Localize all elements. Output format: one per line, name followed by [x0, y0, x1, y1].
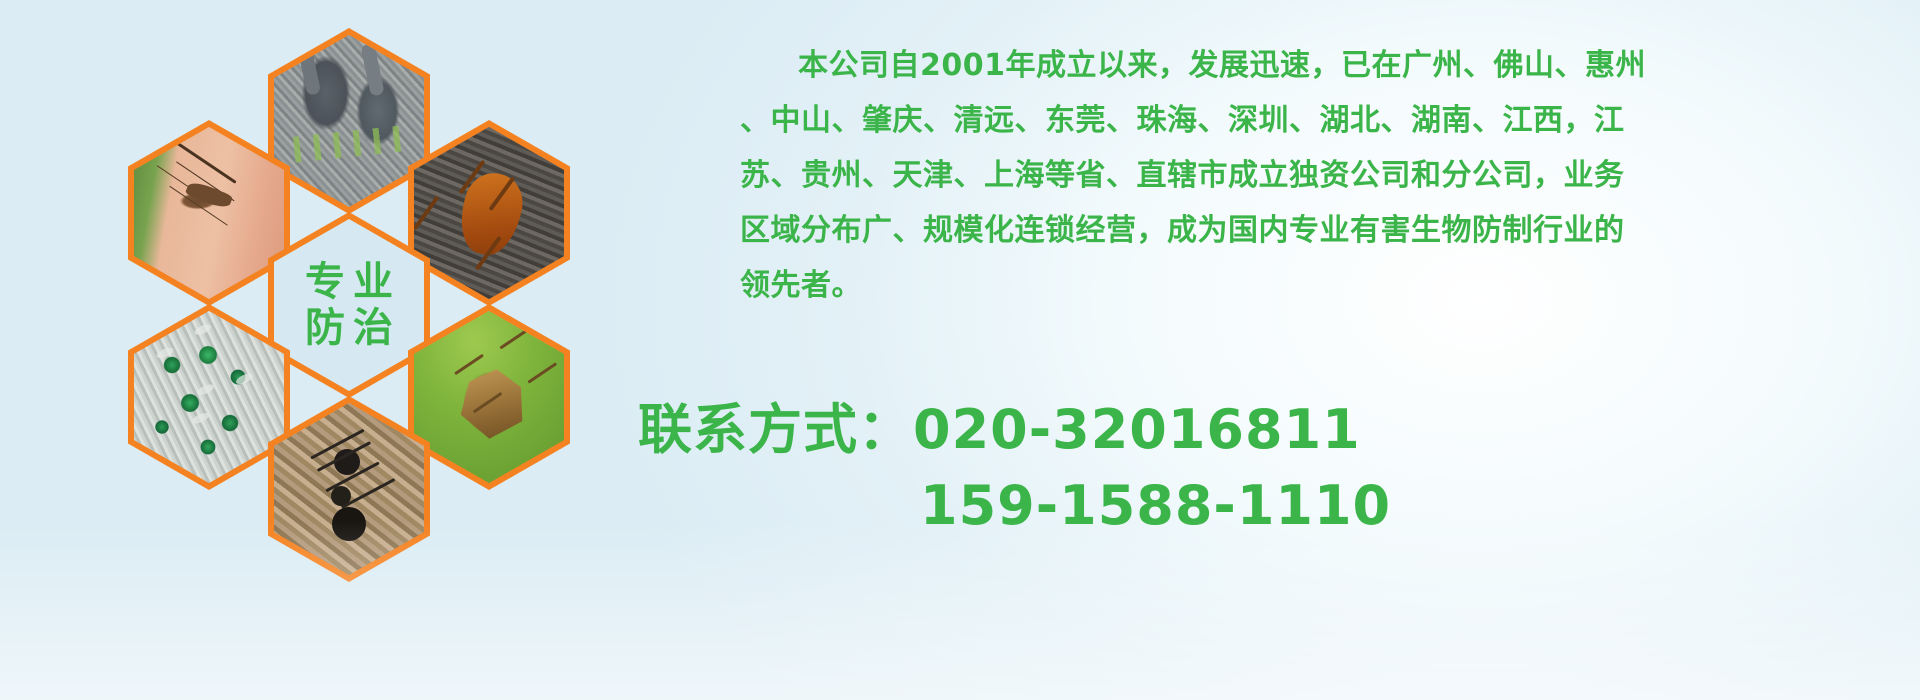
- contact-mobile[interactable]: 159-1588-1110: [630, 468, 1900, 544]
- intro-line-1: 本公司自2001年成立以来，发展迅速，已在广州、佛山、惠州: [740, 38, 1860, 93]
- flies-photo: [134, 311, 284, 483]
- intro-line-5: 领先者。: [740, 258, 1860, 313]
- hex-cell-stinkbug: [408, 304, 570, 490]
- hex-cell-rats: [268, 28, 430, 214]
- hex-cell-label: 专业 防治: [268, 212, 430, 398]
- company-intro-paragraph: 本公司自2001年成立以来，发展迅速，已在广州、佛山、惠州 、中山、肇庆、清远、…: [740, 38, 1860, 313]
- hex-cell-mosquito: [128, 120, 290, 306]
- hex-cell-cockroach: [408, 120, 570, 306]
- logo-text-line2: 防治: [297, 308, 401, 348]
- promo-banner: 专业 防治 本公司自2001年成立以来，发展迅速，已在广州、佛山、惠州 、中山、…: [0, 0, 1920, 700]
- banner-text-column: 本公司自2001年成立以来，发展迅速，已在广州、佛山、惠州 、中山、肇庆、清远、…: [740, 0, 1900, 700]
- cockroach-photo: [414, 127, 564, 299]
- contact-block: 联系方式：020-32016811 159-1588-1110: [630, 392, 1900, 544]
- hex-cell-flies: [128, 304, 290, 490]
- hex-pest-collage: 专业 防治: [100, 10, 600, 580]
- intro-line-4: 区域分布广、规模化连锁经营，成为国内专业有害生物防制行业的: [740, 203, 1860, 258]
- rats-photo: [274, 35, 424, 207]
- contact-landline[interactable]: 联系方式：020-32016811: [630, 392, 1900, 468]
- stinkbug-photo: [414, 311, 564, 483]
- mosquito-photo: [134, 127, 284, 299]
- hex-cell-ant: [268, 396, 430, 582]
- intro-line-2: 、中山、肇庆、清远、东莞、珠海、深圳、湖北、湖南、江西，江: [740, 93, 1860, 148]
- intro-line-3: 苏、贵州、天津、上海等省、直辖市成立独资公司和分公司，业务: [740, 148, 1860, 203]
- logo-text-line1: 专业: [297, 262, 401, 302]
- ant-photo: [274, 403, 424, 575]
